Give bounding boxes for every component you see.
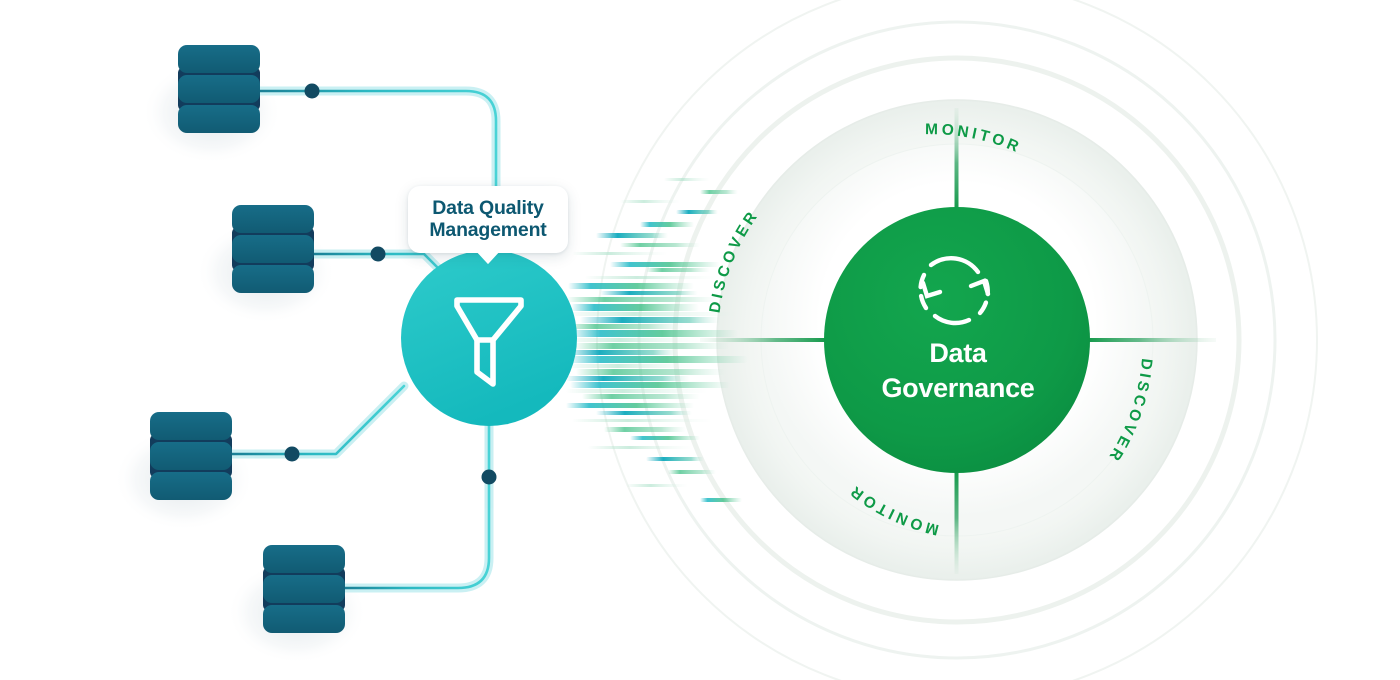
- quadrant-label-top-left: DISCOVER: [707, 207, 763, 314]
- diagram-canvas: DISCOVER MONITOR DISCOVER MONITOR Data G…: [0, 0, 1400, 680]
- governance-title-line-2: Governance: [825, 371, 1091, 406]
- governance-title-line-1: Data: [825, 336, 1091, 371]
- dqm-label-tooltip[interactable]: Data Quality Management: [408, 186, 568, 253]
- divider-vertical-bottom: [955, 472, 959, 574]
- dqm-title-line-2: Management: [416, 219, 560, 241]
- governance-title: Data Governance: [825, 336, 1091, 405]
- quadrant-label-bottom-left: MONITOR: [845, 481, 940, 538]
- divider-horizontal-right: [1088, 338, 1216, 342]
- dqm-title-line-1: Data Quality: [416, 197, 560, 219]
- quadrant-label-top-right: MONITOR: [925, 121, 1024, 157]
- quadrant-label-bottom-right: DISCOVER: [1104, 358, 1155, 467]
- governance-layer: DISCOVER MONITOR DISCOVER MONITOR: [0, 0, 1400, 680]
- divider-horizontal-left: [700, 338, 826, 342]
